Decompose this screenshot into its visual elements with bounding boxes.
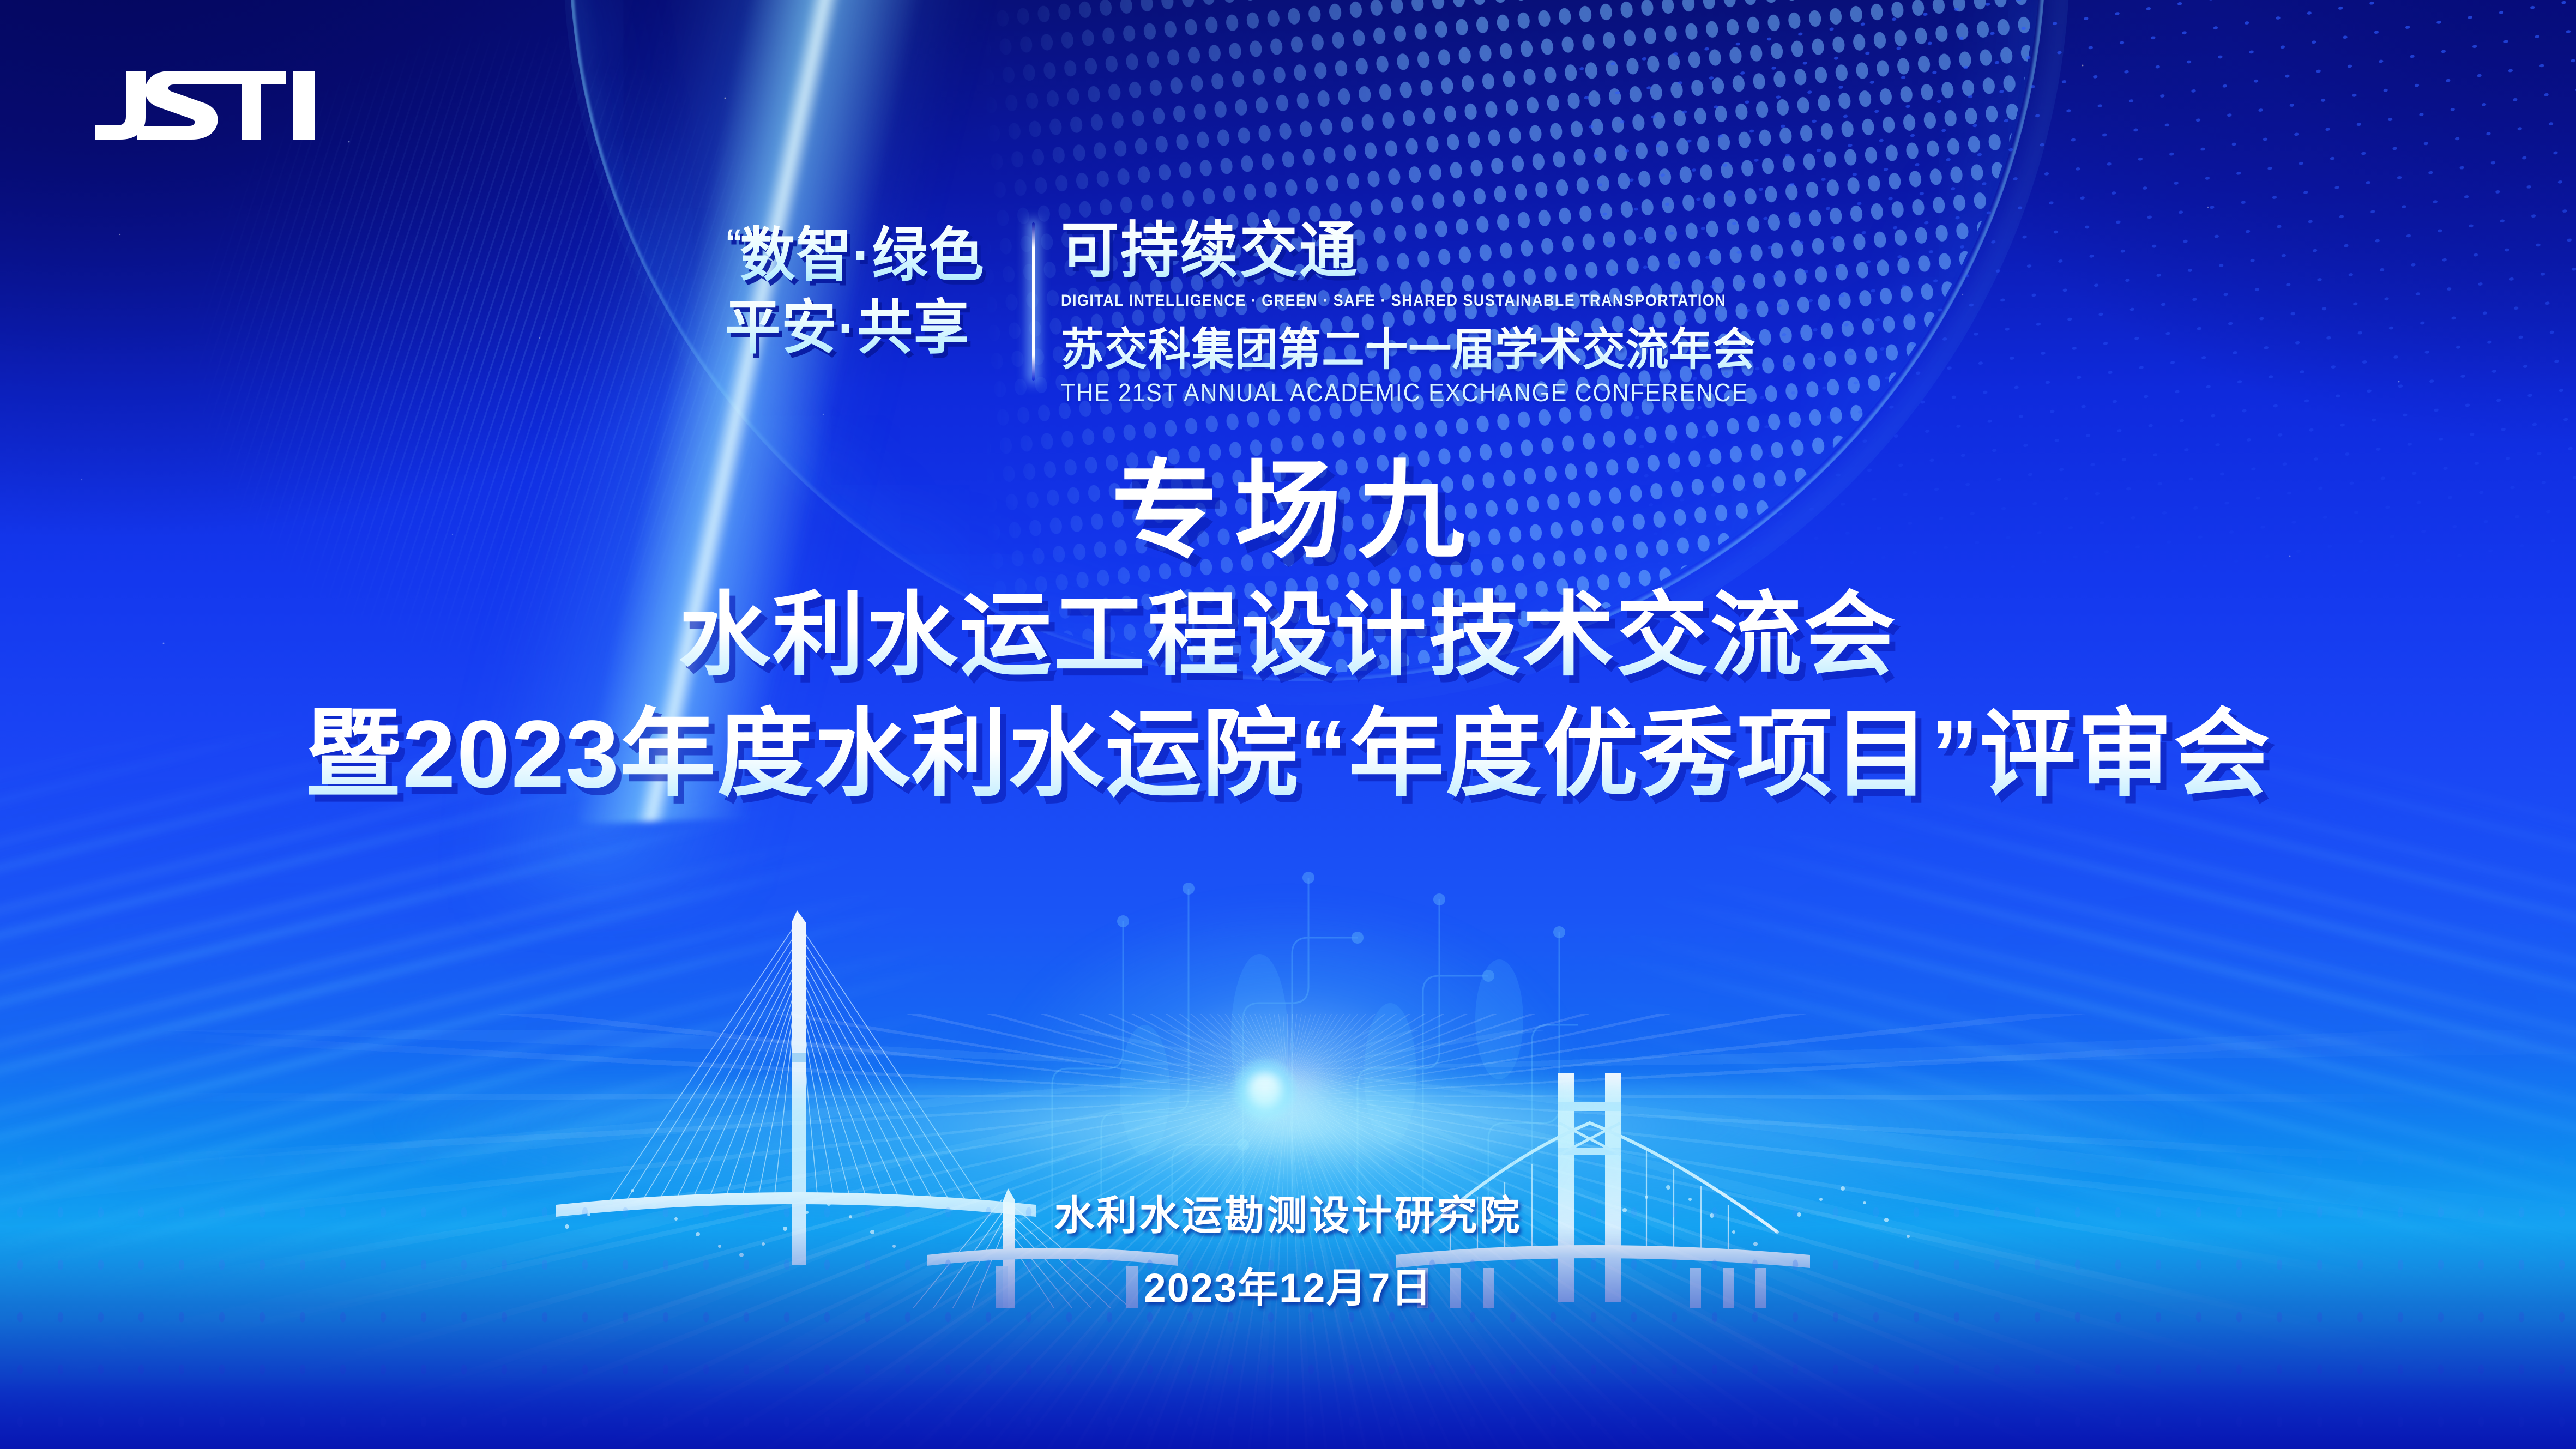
- theme-divider: [1032, 222, 1035, 381]
- jsti-wordmark-icon: [94, 70, 329, 141]
- conference-theme-bar: “数智·绿色 平安·共享 可持续交通 DIGITAL INTELLIGENCE …: [725, 217, 1903, 391]
- slogan-line-1-text: 数智·绿色: [740, 222, 985, 288]
- theme-headline-cn: 可持续交通: [1061, 218, 1763, 284]
- organizer-name: 水利水运勘测设计研究院: [0, 1183, 2576, 1241]
- theme-conference-block: 可持续交通 DIGITAL INTELLIGENCE · GREEN · SAF…: [1061, 217, 1800, 407]
- open-quote-mark: “: [725, 221, 740, 264]
- event-date: 2023年12月7日: [0, 1255, 2576, 1314]
- slogan-line-1: “数智·绿色: [725, 220, 985, 289]
- conference-name-cn: 苏交科集团第二十一届学术交流年会: [1061, 325, 1771, 375]
- footer-block: 水利水运勘测设计研究院 2023年12月7日: [0, 1183, 2576, 1314]
- theme-headline-en: DIGITAL INTELLIGENCE · GREEN · SAFE · SH…: [1061, 292, 1726, 310]
- conference-name-en: THE 21ST ANNUAL ACADEMIC EXCHANGE CONFER…: [1061, 378, 1748, 407]
- event-title-line-2: 暨2023年度水利水运院“年度优秀项目”评审会: [0, 700, 2576, 810]
- jsti-logo: [94, 70, 329, 141]
- slogan-line-2: 平安·共享: [725, 293, 985, 362]
- conference-banner: “数智·绿色 平安·共享 可持续交通 DIGITAL INTELLIGENCE …: [0, 0, 2576, 1449]
- theme-slogan-block: “数智·绿色 平安·共享: [725, 217, 1002, 363]
- session-number: 专场九: [0, 458, 2576, 565]
- main-title-block: 专场九 水利水运工程设计技术交流会 暨2023年度水利水运院“年度优秀项目”评审…: [0, 458, 2576, 809]
- event-title-line-1: 水利水运工程设计技术交流会: [0, 583, 2576, 688]
